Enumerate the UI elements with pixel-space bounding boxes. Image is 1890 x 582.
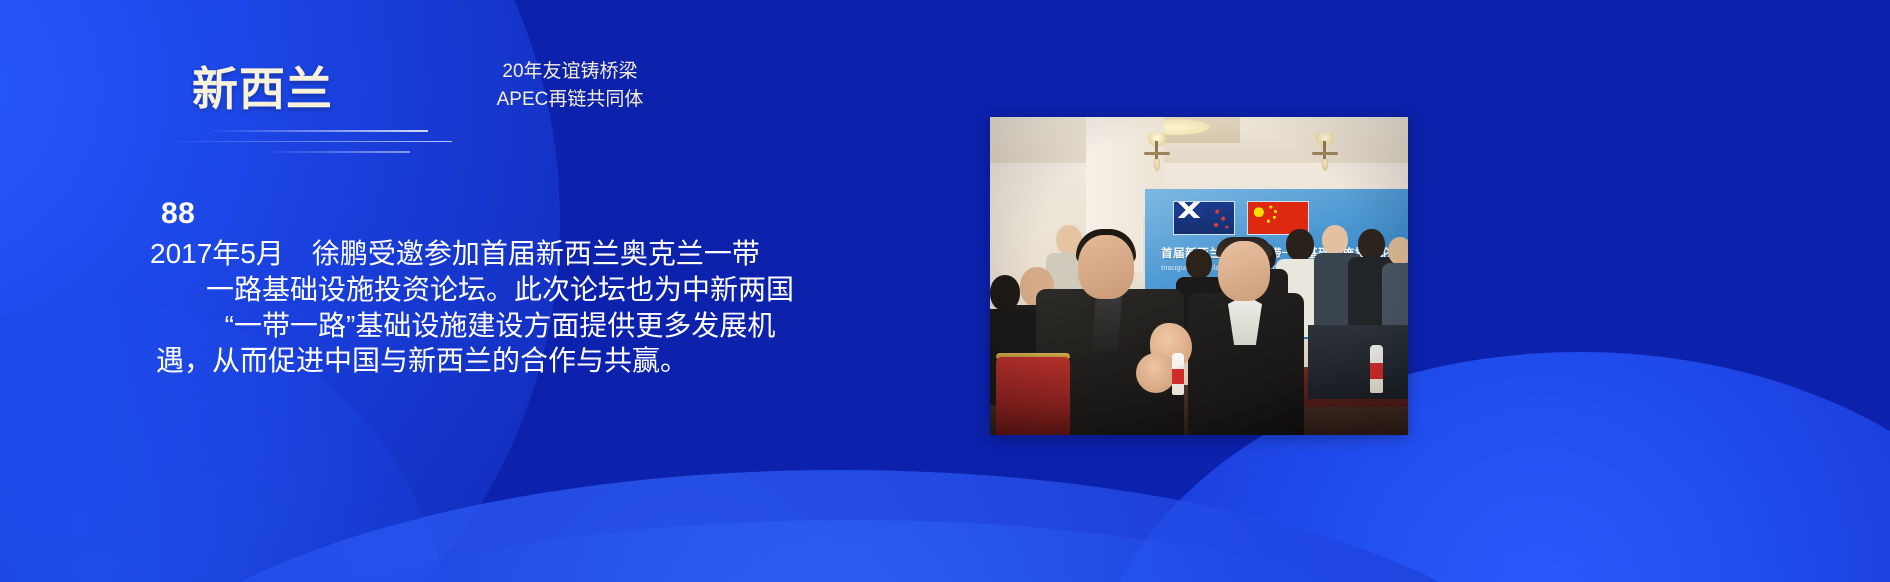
subtitle-line-2: APEC再链共同体	[420, 86, 720, 114]
header-subtitle: 20年友谊铸桥梁 APEC再链共同体	[420, 58, 720, 113]
photo-scene: 首届新西兰奥克兰一带一路基础设施投资论坛 Inaugural Auckland …	[990, 117, 1408, 435]
subtitle-line-1: 20年友谊铸桥梁	[420, 58, 720, 86]
decorative-circle-bottom-right-small	[90, 470, 1590, 582]
title-rule-1	[208, 130, 428, 132]
body-line-3: “一带一路”基础设施建设方面提供更多发展机	[150, 308, 850, 344]
body-paragraph: 2017年5月 徐鹏受邀参加首届新西兰奥克兰一带 一路基础设施投资论坛。此次论坛…	[150, 236, 850, 379]
title-rule-2	[162, 141, 452, 143]
page-title: 新西兰	[192, 66, 333, 112]
title-underline-rules	[150, 130, 570, 162]
body-line-1: 2017年5月 徐鹏受邀参加首届新西兰奥克兰一带	[150, 236, 850, 272]
presentation-slide: 新西兰 20年友谊铸桥梁 APEC再链共同体 88 2017年5月 徐鹏受邀参加…	[0, 0, 1890, 582]
photo-vignette	[990, 117, 1408, 435]
decorative-circle-bottom-edge	[150, 520, 1550, 582]
title-rule-3	[260, 151, 410, 153]
event-photo: 首届新西兰奥克兰一带一路基础设施投资论坛 Inaugural Auckland …	[990, 117, 1408, 435]
body-line-4: 遇，从而促进中国与新西兰的合作与共赢。	[150, 343, 850, 379]
body-line-2: 一路基础设施投资论坛。此次论坛也为中新两国	[150, 272, 850, 308]
item-number: 88	[161, 197, 195, 231]
